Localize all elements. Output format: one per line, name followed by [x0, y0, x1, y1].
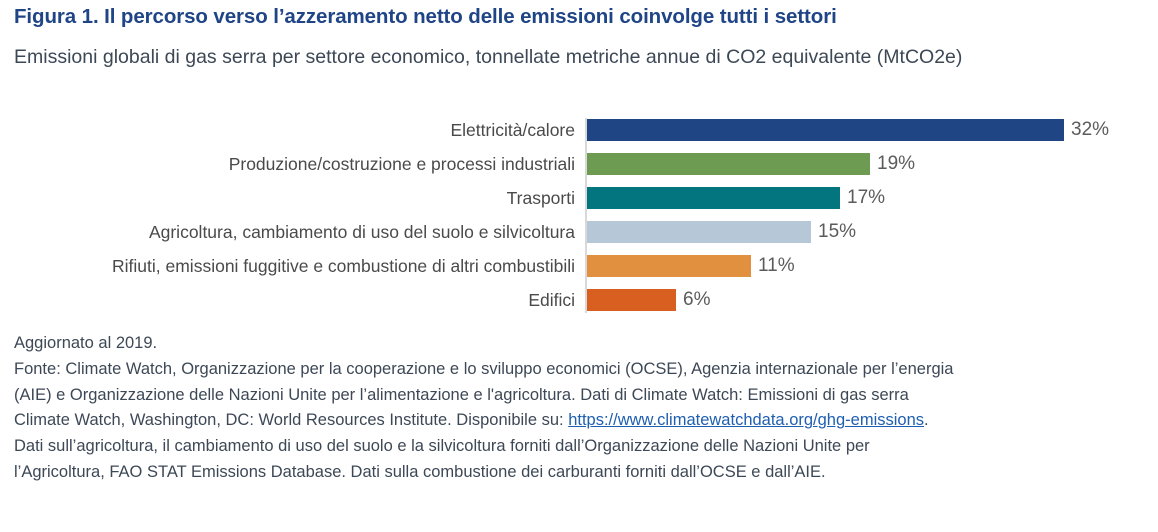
bar-category-label: Produzione/costruzione e processi indust…	[229, 153, 575, 175]
note-line: (AIE) e Organizzazione delle Nazioni Uni…	[14, 383, 1144, 409]
figure-notes: Aggiornato al 2019.Fonte: Climate Watch,…	[14, 331, 1144, 486]
bar-chart-row: Rifiuti, emissioni fuggitive e combustio…	[0, 255, 1158, 277]
bar-segment	[587, 289, 676, 311]
bar-category-label: Trasporti	[507, 187, 575, 209]
note-line: Dati sull’agricoltura, il cambiamento di…	[14, 434, 1144, 460]
bar-category-label: Agricoltura, cambiamento di uso del suol…	[149, 221, 575, 243]
chart-axis-line	[585, 118, 587, 313]
note-line: Fonte: Climate Watch, Organizzazione per…	[14, 357, 1144, 383]
note-line: l’Agricoltura, FAO STAT Emissions Databa…	[14, 460, 1144, 486]
bar-category-label: Edifici	[528, 289, 575, 311]
bar-chart-row: Elettricità/calore32%	[0, 119, 1158, 141]
bar-chart-row: Produzione/costruzione e processi indust…	[0, 153, 1158, 175]
note-line: Aggiornato al 2019.	[14, 331, 1144, 357]
bar-value-label: 11%	[758, 255, 795, 277]
bar-category-label: Elettricità/calore	[451, 119, 576, 141]
note-line: Climate Watch, Washington, DC: World Res…	[14, 408, 1144, 434]
bar-segment	[587, 119, 1064, 141]
bar-chart-row: Agricoltura, cambiamento di uso del suol…	[0, 221, 1158, 243]
bar-chart-row: Trasporti17%	[0, 187, 1158, 209]
figure-container: Figura 1. Il percorso verso l’azzerament…	[0, 0, 1158, 532]
bar-chart-row: Edifici6%	[0, 289, 1158, 311]
bar-value-label: 19%	[877, 153, 915, 175]
bar-value-label: 17%	[847, 187, 885, 209]
bar-chart: Elettricità/calore32%Produzione/costruzi…	[0, 114, 1158, 319]
figure-title: Figura 1. Il percorso verso l’azzerament…	[14, 4, 1144, 30]
bar-category-label: Rifiuti, emissioni fuggitive e combustio…	[112, 255, 575, 277]
bar-segment	[587, 221, 811, 243]
source-link[interactable]: https://www.climatewatchdata.org/ghg-emi…	[568, 411, 924, 429]
bar-value-label: 6%	[683, 289, 710, 311]
note-text-suffix: .	[924, 411, 929, 429]
bar-value-label: 32%	[1071, 119, 1109, 141]
bar-chart-rows: Elettricità/calore32%Produzione/costruzi…	[0, 114, 1158, 319]
bar-segment	[587, 255, 751, 277]
figure-subtitle: Emissioni globali di gas serra per setto…	[14, 42, 1024, 72]
bar-segment	[587, 187, 840, 209]
note-text: Climate Watch, Washington, DC: World Res…	[14, 411, 568, 429]
bar-value-label: 15%	[818, 221, 856, 243]
bar-segment	[587, 153, 870, 175]
